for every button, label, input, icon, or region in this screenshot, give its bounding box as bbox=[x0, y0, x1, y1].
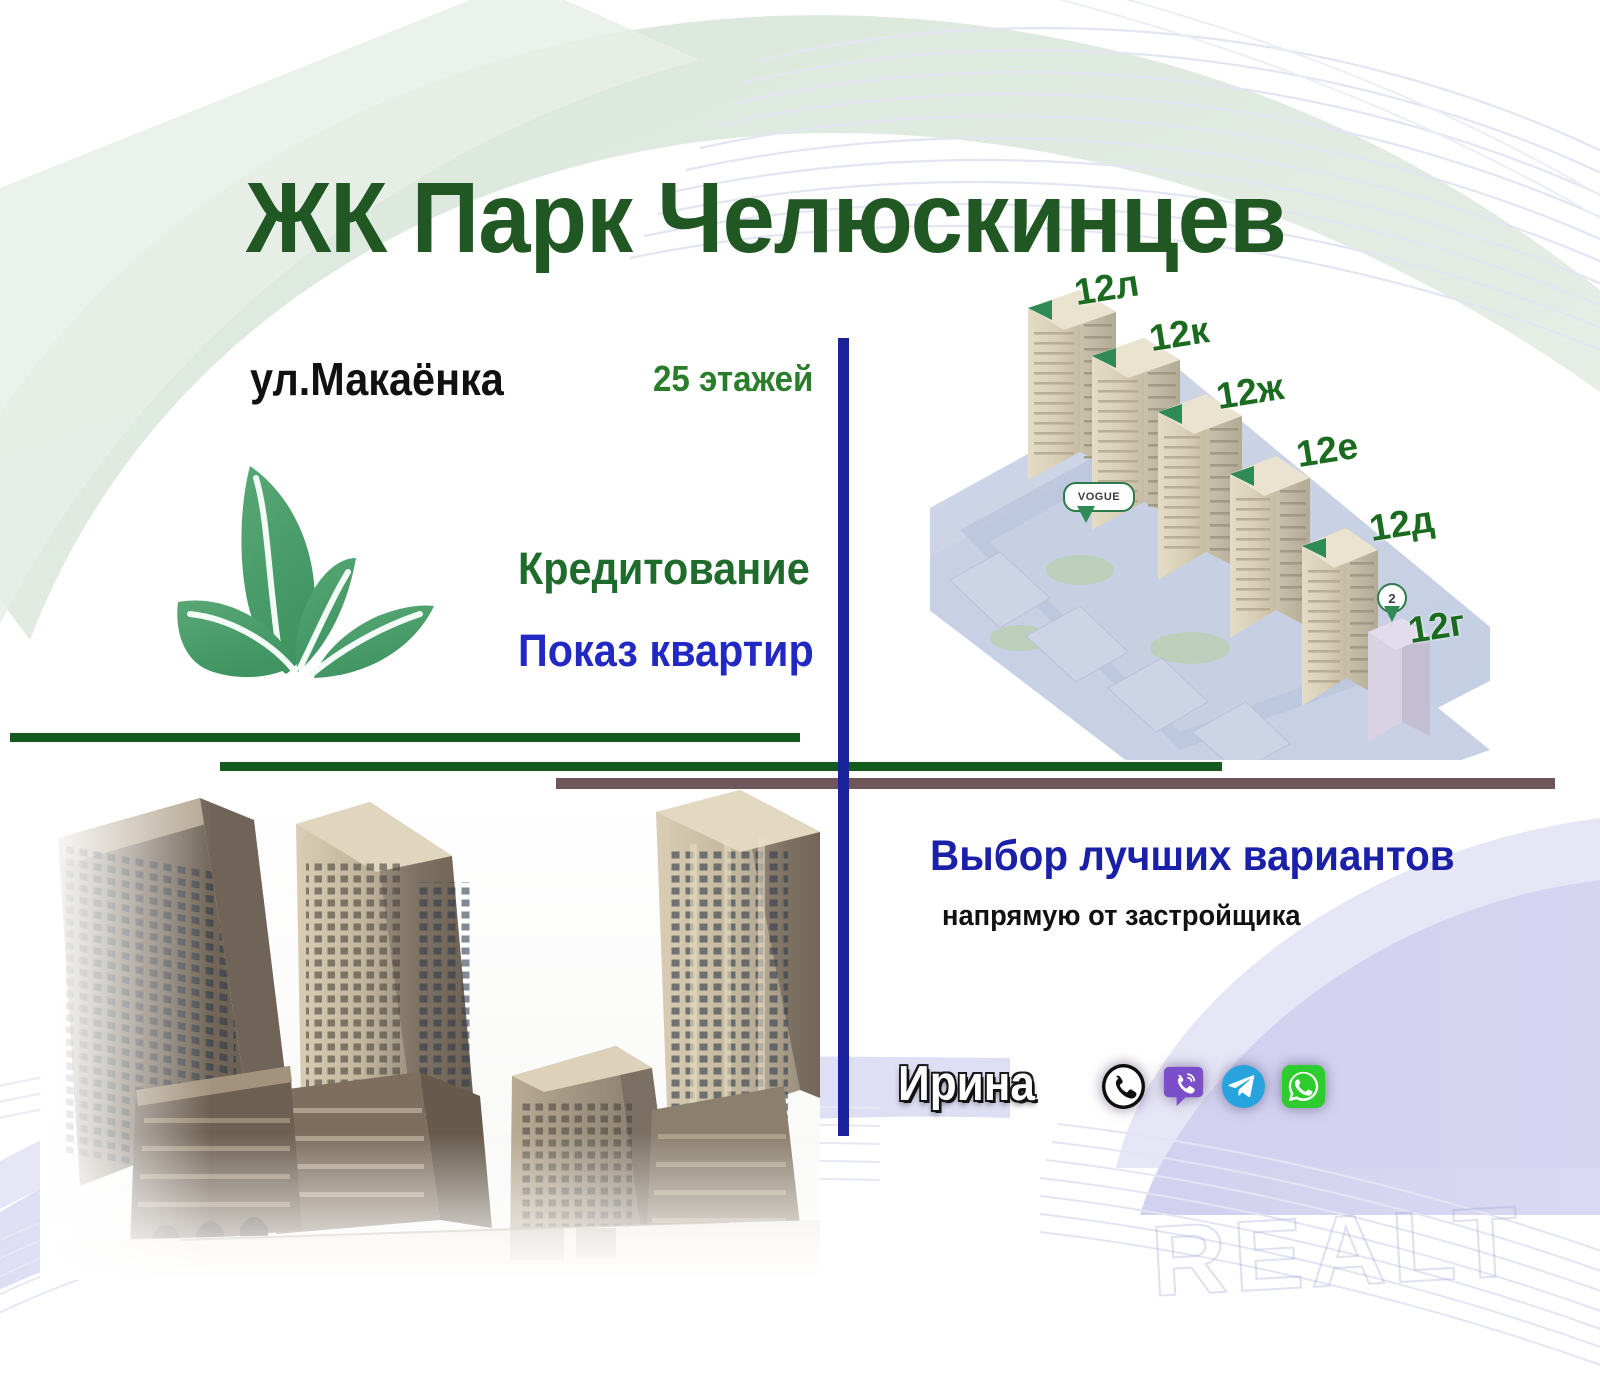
residential-complex-photo bbox=[40, 790, 820, 1280]
offer-credit: Кредитование bbox=[518, 543, 810, 595]
from-developer-subline: напрямую от застройщика bbox=[942, 900, 1301, 933]
complex-photo-image bbox=[40, 790, 820, 1280]
telegram-icon[interactable] bbox=[1220, 1063, 1267, 1110]
realt-watermark: REALT bbox=[1148, 1184, 1528, 1320]
leaf-logo-icon bbox=[152, 452, 452, 714]
building-label-12g: 12г bbox=[1405, 602, 1467, 652]
divider-brown bbox=[556, 778, 1555, 789]
phone-icon[interactable] bbox=[1100, 1063, 1147, 1110]
number-pin: 2 bbox=[1377, 583, 1407, 613]
whatsapp-icon[interactable] bbox=[1280, 1063, 1327, 1110]
best-options-headline: Выбор лучших вариантов bbox=[930, 832, 1455, 881]
agent-name: Ирина bbox=[898, 1056, 1035, 1112]
floor-count: 25 этажей bbox=[653, 358, 813, 400]
viber-icon[interactable] bbox=[1160, 1063, 1207, 1110]
advertisement-canvas: ЖК Парк Челюскинцев ул.Макаёнка 25 этаже… bbox=[0, 0, 1600, 1400]
leaf-logo bbox=[152, 452, 452, 714]
divider-green-upper bbox=[10, 733, 800, 742]
street-address: ул.Макаёнка bbox=[250, 352, 504, 406]
vogue-pin: VOGUE bbox=[1063, 482, 1135, 512]
divider-green-lower bbox=[220, 762, 1222, 771]
contact-icons bbox=[1100, 1063, 1327, 1110]
page-title: ЖК Парк Челюскинцев bbox=[246, 168, 1286, 268]
offer-viewing: Показ квартир bbox=[518, 625, 814, 677]
divider-vertical-blue bbox=[838, 338, 849, 1136]
